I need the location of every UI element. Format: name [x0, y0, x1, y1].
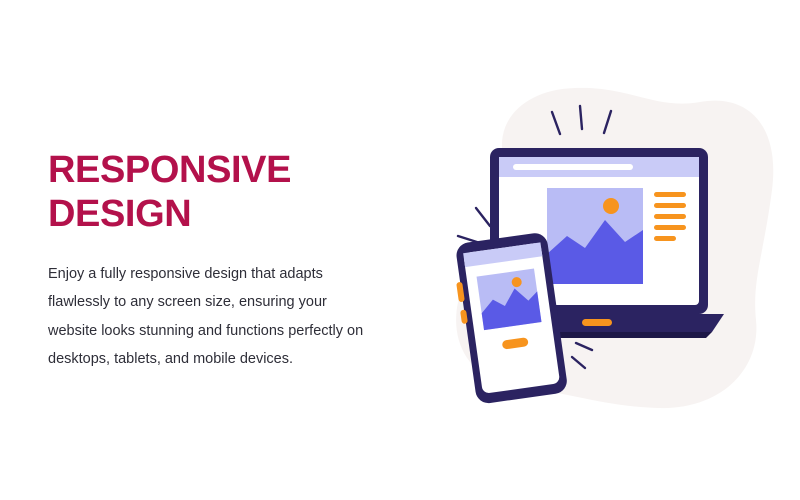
hero-section: RESPONSIVE DESIGN Enjoy a fully responsi… [0, 0, 800, 500]
hero-text-column: RESPONSIVE DESIGN Enjoy a fully responsi… [48, 148, 378, 373]
hero-description: Enjoy a fully responsive design that ada… [48, 260, 368, 373]
laptop-screen [499, 157, 699, 177]
laptop-image-placeholder [547, 188, 643, 284]
page-title: RESPONSIVE DESIGN [48, 148, 378, 236]
responsive-devices-illustration [400, 40, 800, 460]
phone-image-placeholder [477, 269, 542, 331]
